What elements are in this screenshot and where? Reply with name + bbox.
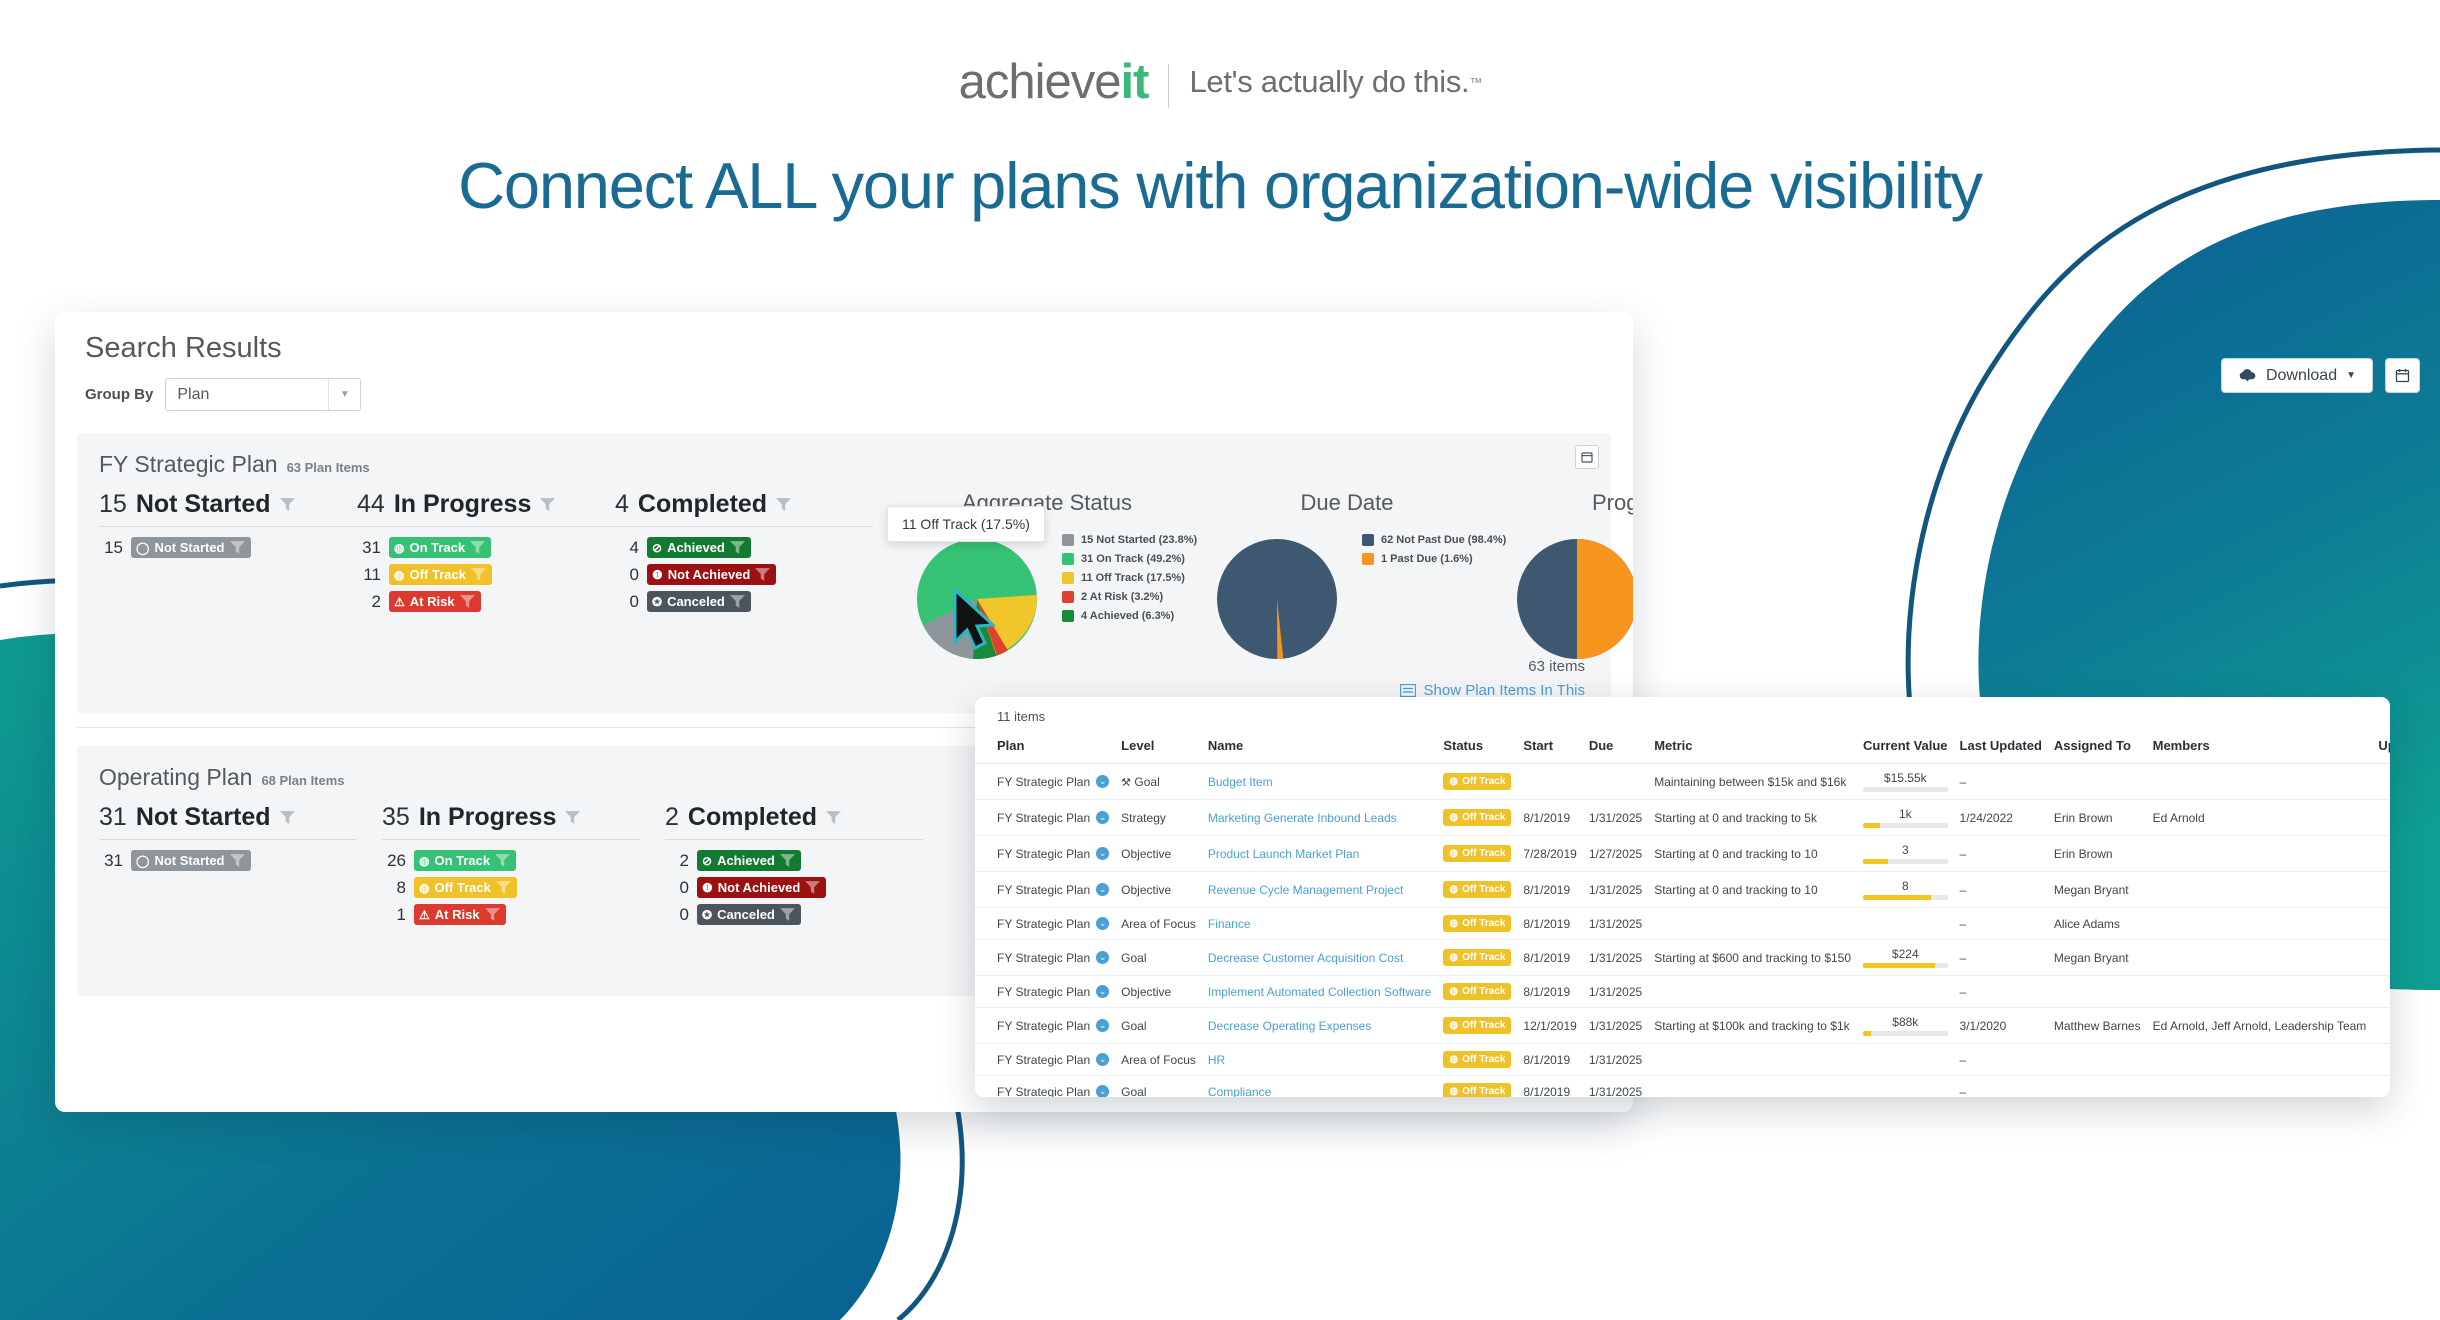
pie-chart-due-date[interactable] bbox=[1197, 524, 1357, 674]
status-badge-label: Off Track bbox=[434, 880, 490, 895]
status-row[interactable]: 0 ✪ Canceled bbox=[665, 904, 948, 925]
cell-last-updated: – bbox=[1954, 764, 2048, 800]
cell-assigned-to: Matthew Barnes bbox=[2048, 1008, 2147, 1044]
col-header-assigned-to[interactable]: Assigned To bbox=[2048, 730, 2147, 764]
cell-status: ◍Off Track bbox=[1437, 800, 1517, 836]
status-row[interactable]: 4 ⊘ Achieved bbox=[615, 537, 873, 558]
cell-members bbox=[2147, 976, 2373, 1008]
warning-icon: ⚠ bbox=[394, 596, 405, 608]
chart-legend: 62 Not Past Due (98.4%) 1 Past Due (1.6%… bbox=[1362, 534, 1506, 565]
status-badge-off-track[interactable]: ◍Off Track bbox=[1443, 809, 1511, 826]
link-circle-icon[interactable]: ⌄ bbox=[1096, 985, 1109, 998]
status-row[interactable]: 0 ✪ Canceled bbox=[615, 591, 873, 612]
progress-fill bbox=[1863, 859, 1888, 864]
plan-name: FY Strategic Plan bbox=[99, 451, 278, 478]
col-header-last-updated[interactable]: Last Updated bbox=[1954, 730, 2048, 764]
plan-name-text: FY Strategic Plan bbox=[997, 1019, 1090, 1033]
cell-level: Area of Focus bbox=[1115, 1044, 1202, 1076]
cell-level: Objective bbox=[1115, 976, 1202, 1008]
table-row[interactable]: FY Strategic Plan⌄GoalDecrease Operating… bbox=[975, 1008, 2390, 1044]
cell-metric: Starting at 0 and tracking to 5k bbox=[1648, 800, 1857, 836]
status-row[interactable]: 11 ◍ Off Track bbox=[357, 564, 615, 585]
cell-start: 8/1/2019 bbox=[1517, 976, 1582, 1008]
cell-level: Goal bbox=[1115, 1076, 1202, 1098]
chart-aggregate-status: Aggregate Status 11 Off Track (17.5%) bbox=[897, 490, 1197, 674]
item-name-link[interactable]: Decrease Operating Expenses bbox=[1208, 1019, 1371, 1033]
filter-funnel-icon[interactable] bbox=[730, 541, 745, 554]
item-name-link[interactable]: Revenue Cycle Management Project bbox=[1208, 883, 1403, 897]
plan-item-count: 63 Plan Items bbox=[287, 460, 370, 475]
cell-due: 1/31/2025 bbox=[1583, 908, 1648, 940]
table-items-count: 11 items bbox=[975, 709, 2390, 730]
filter-funnel-icon[interactable] bbox=[280, 498, 295, 511]
status-label: Completed bbox=[638, 490, 767, 519]
cloud-download-icon bbox=[2238, 368, 2257, 383]
plan-items-table-window: 11 items Plan Level Name Status Start Du… bbox=[975, 697, 2390, 1097]
cell-status: ◍Off Track bbox=[1437, 1044, 1517, 1076]
plan-name-text: FY Strategic Plan bbox=[997, 1085, 1090, 1098]
status-badge-label: Not Started bbox=[154, 853, 224, 868]
cell-name: Compliance bbox=[1202, 1076, 1437, 1098]
chart-tooltip: 11 Off Track (17.5%) bbox=[887, 506, 1045, 542]
status-badge-label: At Risk bbox=[410, 594, 455, 609]
cell-status: ◍Off Track bbox=[1437, 976, 1517, 1008]
cell-start: 7/28/2019 bbox=[1517, 836, 1582, 872]
col-header-plan[interactable]: Plan bbox=[975, 730, 1115, 764]
plan-title-row: FY Strategic Plan 63 Plan Items bbox=[77, 433, 1611, 478]
table-row[interactable]: FY Strategic Plan⌄StrategyMarketing Gene… bbox=[975, 800, 2390, 836]
status-row[interactable]: 26 ◍ On Track bbox=[382, 850, 665, 871]
cell-name: Revenue Cycle Management Project bbox=[1202, 872, 1437, 908]
cell-metric: Maintaining between $15k and $16k bbox=[1648, 764, 1857, 800]
link-circle-icon[interactable]: ⌄ bbox=[1096, 1053, 1109, 1066]
link-circle-icon[interactable]: ⌄ bbox=[1096, 1085, 1109, 1097]
status-row-list: 15 ◯ Not Started bbox=[99, 527, 357, 558]
item-name-link[interactable]: Finance bbox=[1208, 917, 1251, 931]
status-label: In Progress bbox=[394, 490, 532, 519]
legend-swatch bbox=[1062, 610, 1074, 622]
filter-funnel-icon[interactable] bbox=[755, 568, 770, 581]
clock-icon: ◍ bbox=[1449, 812, 1458, 823]
status-row-list: 31 ◯ Not Started bbox=[99, 840, 382, 871]
group-by-select[interactable]: Plan ▼ bbox=[165, 378, 361, 411]
status-badge-label: Canceled bbox=[667, 594, 725, 609]
filter-funnel-icon[interactable] bbox=[565, 811, 580, 824]
current-value-cell: $224 bbox=[1863, 947, 1948, 968]
cell-assigned-to: Erin Brown bbox=[2048, 800, 2147, 836]
filter-funnel-icon[interactable] bbox=[776, 498, 791, 511]
items-count: 63 items bbox=[1400, 658, 1585, 675]
filter-funnel-icon[interactable] bbox=[826, 811, 841, 824]
legend-item[interactable]: 4 Achieved (6.3%) bbox=[1062, 610, 1197, 622]
col-header-status[interactable]: Status bbox=[1437, 730, 1517, 764]
status-badge-label: Not Achieved bbox=[668, 567, 751, 582]
status-badge-label: Not Started bbox=[154, 540, 224, 555]
cell-metric bbox=[1648, 1076, 1857, 1098]
filter-funnel-icon[interactable] bbox=[780, 908, 795, 921]
legend-label: 1 Past Due (1.6%) bbox=[1381, 553, 1473, 565]
status-row[interactable]: 1 ⚠ At Risk bbox=[382, 904, 665, 925]
cell-assigned-to bbox=[2048, 764, 2147, 800]
panel-footer: 63 items Show Plan Items In This bbox=[1400, 658, 1585, 699]
status-badge-on-track[interactable]: ◍ On Track bbox=[389, 537, 491, 558]
cell-current-value bbox=[1857, 976, 1954, 1008]
clock-icon: ◍ bbox=[394, 542, 404, 554]
cell-members: Ed Arnold bbox=[2147, 800, 2373, 836]
item-name-link[interactable]: Product Launch Market Plan bbox=[1208, 847, 1359, 861]
cell-last-updated: – bbox=[1954, 1076, 2048, 1098]
warning-icon: ⚠ bbox=[419, 909, 430, 921]
progress-bar bbox=[1863, 963, 1948, 968]
cell-level: Strategy bbox=[1115, 800, 1202, 836]
cell-plan: FY Strategic Plan⌄ bbox=[975, 800, 1115, 836]
circle-icon: ◯ bbox=[136, 542, 149, 554]
cell-assigned-to: Alice Adams bbox=[2048, 908, 2147, 940]
chart-title: Progress U bbox=[1497, 490, 1633, 516]
circle-icon: ◯ bbox=[136, 855, 149, 867]
plan-items-table: Plan Level Name Status Start Due Metric … bbox=[975, 730, 2390, 1097]
cell-current-value: $88k bbox=[1857, 1008, 1954, 1044]
cell-metric: Starting at 0 and tracking to 10 bbox=[1648, 836, 1857, 872]
cell-level: Goal bbox=[1115, 1008, 1202, 1044]
status-badge-canceled[interactable]: ✪ Canceled bbox=[647, 591, 751, 612]
item-name-link[interactable]: Decrease Customer Acquisition Cost bbox=[1208, 951, 1403, 965]
status-badge-off-track[interactable]: ◍Off Track bbox=[1443, 881, 1511, 898]
item-name-link[interactable]: Budget Item bbox=[1208, 775, 1273, 789]
status-row[interactable]: 0 ❶ Not Achieved bbox=[615, 564, 873, 585]
status-badge-off-track[interactable]: ◍Off Track bbox=[1443, 773, 1511, 790]
brand-header: achieveit Let's actually do this.™ bbox=[0, 54, 2440, 110]
status-badge-not-started[interactable]: ◯ Not Started bbox=[131, 537, 251, 558]
cell-updates bbox=[2372, 940, 2390, 976]
status-badge-label: Off Track bbox=[409, 567, 465, 582]
group-by-value: Plan bbox=[166, 379, 328, 410]
download-label: Download bbox=[2266, 367, 2337, 385]
link-circle-icon[interactable]: ⌄ bbox=[1096, 811, 1109, 824]
filter-funnel-icon[interactable] bbox=[496, 881, 511, 894]
cell-status: ◍Off Track bbox=[1437, 908, 1517, 940]
status-count: 44 bbox=[357, 490, 385, 519]
status-row-count: 0 bbox=[665, 878, 689, 898]
status-row[interactable]: 8 ◍ Off Track bbox=[382, 877, 665, 898]
cell-metric bbox=[1648, 976, 1857, 1008]
cell-members bbox=[2147, 836, 2373, 872]
status-column-in-progress: 35 In Progress 26 ◍ On Track 8 bbox=[382, 803, 665, 965]
cell-start: 8/1/2019 bbox=[1517, 1076, 1582, 1098]
panel-expand-button[interactable] bbox=[1575, 445, 1599, 469]
status-badge-off-track[interactable]: ◍Off Track bbox=[1443, 1083, 1511, 1097]
schedule-button[interactable] bbox=[2385, 358, 2420, 393]
cell-status: ◍Off Track bbox=[1437, 836, 1517, 872]
legend-item[interactable]: 1 Past Due (1.6%) bbox=[1362, 553, 1506, 565]
item-name-link[interactable]: HR bbox=[1208, 1053, 1225, 1067]
clock-icon: ◍ bbox=[1449, 1054, 1458, 1065]
cell-level: Goal bbox=[1115, 940, 1202, 976]
col-header-name[interactable]: Name bbox=[1202, 730, 1437, 764]
table-row[interactable]: FY Strategic Plan⌄ObjectiveProduct Launc… bbox=[975, 836, 2390, 872]
table-row[interactable]: FY Strategic Plan⌄Area of FocusFinance◍O… bbox=[975, 908, 2390, 940]
filter-funnel-icon[interactable] bbox=[471, 568, 486, 581]
status-row-count: 31 bbox=[357, 538, 381, 558]
cell-plan: FY Strategic Plan⌄ bbox=[975, 1076, 1115, 1098]
status-count: 4 bbox=[615, 490, 629, 519]
window-header: Search Results Group By Plan ▼ bbox=[55, 312, 1633, 411]
chart-progress-updates: Progress U bbox=[1497, 490, 1633, 674]
trademark-mark: ™ bbox=[1469, 75, 1481, 90]
window-toolbar: Download ▼ bbox=[2221, 358, 2420, 393]
cell-plan: FY Strategic Plan⌄ bbox=[975, 908, 1115, 940]
plan-name-text: FY Strategic Plan bbox=[997, 1053, 1090, 1067]
progress-fill bbox=[1863, 1031, 1871, 1036]
mouse-cursor-icon bbox=[949, 586, 1009, 656]
status-badge-at-risk[interactable]: ⚠ At Risk bbox=[389, 591, 481, 612]
col-header-current-value[interactable]: Current Value bbox=[1857, 730, 1954, 764]
status-badge-at-risk[interactable]: ⚠ At Risk bbox=[414, 904, 506, 925]
table-head: Plan Level Name Status Start Due Metric … bbox=[975, 730, 2390, 764]
status-badge-off-track[interactable]: ◍Off Track bbox=[1443, 1017, 1511, 1034]
col-header-due[interactable]: Due bbox=[1583, 730, 1648, 764]
link-circle-icon[interactable]: ⌄ bbox=[1096, 775, 1109, 788]
cell-name: HR bbox=[1202, 1044, 1437, 1076]
filter-funnel-icon[interactable] bbox=[495, 854, 510, 867]
cell-updates bbox=[2372, 908, 2390, 940]
cell-level: Objective bbox=[1115, 872, 1202, 908]
status-badge-not-achieved[interactable]: ❶ Not Achieved bbox=[697, 877, 826, 898]
cell-start: 8/1/2019 bbox=[1517, 940, 1582, 976]
status-badge-label: Canceled bbox=[717, 907, 775, 922]
status-badge-on-track[interactable]: ◍ On Track bbox=[414, 850, 516, 871]
status-row-count: 26 bbox=[382, 851, 406, 871]
cell-name: Budget Item bbox=[1202, 764, 1437, 800]
status-row[interactable]: 2 ⚠ At Risk bbox=[357, 591, 615, 612]
status-row[interactable]: 0 ❶ Not Achieved bbox=[665, 877, 948, 898]
cell-current-value: $15.55k bbox=[1857, 764, 1954, 800]
status-count: 35 bbox=[382, 803, 410, 832]
table-row[interactable]: FY Strategic Plan⌄GoalDecrease Customer … bbox=[975, 940, 2390, 976]
cell-level: Area of Focus bbox=[1115, 908, 1202, 940]
status-row[interactable]: 31 ◯ Not Started bbox=[99, 850, 382, 871]
legend-swatch bbox=[1062, 591, 1074, 603]
filter-funnel-icon[interactable] bbox=[230, 541, 245, 554]
link-circle-icon[interactable]: ⌄ bbox=[1096, 883, 1109, 896]
cell-assigned-to bbox=[2048, 976, 2147, 1008]
filter-funnel-icon[interactable] bbox=[230, 854, 245, 867]
filter-funnel-icon[interactable] bbox=[730, 595, 745, 608]
current-value-cell: 1k bbox=[1863, 807, 1948, 828]
page-title: Search Results bbox=[85, 332, 1603, 365]
plan-name: Operating Plan bbox=[99, 764, 252, 791]
cell-current-value bbox=[1857, 1076, 1954, 1098]
pie-chart-progress-updates[interactable] bbox=[1497, 524, 1633, 674]
status-badge-label: On Track bbox=[409, 540, 465, 555]
cell-plan: FY Strategic Plan⌄ bbox=[975, 872, 1115, 908]
cell-plan: FY Strategic Plan⌄ bbox=[975, 1044, 1115, 1076]
item-name-link[interactable]: Compliance bbox=[1208, 1085, 1271, 1098]
cell-metric bbox=[1648, 908, 1857, 940]
cell-assigned-to: Megan Bryant bbox=[2048, 872, 2147, 908]
plan-item-count: 68 Plan Items bbox=[261, 773, 344, 788]
filter-funnel-icon[interactable] bbox=[470, 541, 485, 554]
filter-funnel-icon[interactable] bbox=[280, 811, 295, 824]
cell-level: Objective bbox=[1115, 836, 1202, 872]
cell-due: 1/31/2025 bbox=[1583, 1044, 1648, 1076]
cell-start: 8/1/2019 bbox=[1517, 800, 1582, 836]
item-name-link[interactable]: Marketing Generate Inbound Leads bbox=[1208, 811, 1397, 825]
cell-current-value bbox=[1857, 1044, 1954, 1076]
filter-funnel-icon[interactable] bbox=[485, 908, 500, 921]
logo-tagline: Let's actually do this. bbox=[1189, 64, 1469, 100]
cell-plan: FY Strategic Plan⌄ bbox=[975, 976, 1115, 1008]
status-label: In Progress bbox=[419, 803, 557, 832]
cell-due: 1/31/2025 bbox=[1583, 940, 1648, 976]
cell-due: 1/31/2025 bbox=[1583, 1008, 1648, 1044]
current-value-cell: $88k bbox=[1863, 1015, 1948, 1036]
status-badge-off-track[interactable]: ◍ Off Track bbox=[389, 564, 492, 585]
link-circle-icon[interactable]: ⌄ bbox=[1096, 1019, 1109, 1032]
filter-funnel-icon[interactable] bbox=[780, 854, 795, 867]
pie-wrap: 11 Off Track (17.5%) 15 Not Started (23.… bbox=[897, 524, 1197, 674]
pie-wrap bbox=[1497, 524, 1633, 674]
status-row-count: 8 bbox=[382, 878, 406, 898]
status-row[interactable]: 2 ⊘ Achieved bbox=[665, 850, 948, 871]
table-row[interactable]: FY Strategic Plan⌄Area of FocusHR◍Off Tr… bbox=[975, 1044, 2390, 1076]
cell-start: 8/1/2019 bbox=[1517, 872, 1582, 908]
table-header-row: Plan Level Name Status Start Due Metric … bbox=[975, 730, 2390, 764]
cell-metric: Starting at $100k and tracking to $1k bbox=[1648, 1008, 1857, 1044]
cell-last-updated: – bbox=[1954, 908, 2048, 940]
legend-swatch bbox=[1062, 534, 1074, 546]
legend-item[interactable]: 11 Off Track (17.5%) bbox=[1062, 572, 1197, 584]
col-header-members[interactable]: Members bbox=[2147, 730, 2373, 764]
status-row-list: 2 ⊘ Achieved 0 ❶ Not Achieved bbox=[665, 840, 948, 925]
table-row[interactable]: FY Strategic Plan⌄GoalCompliance◍Off Tra… bbox=[975, 1076, 2390, 1098]
cell-updates bbox=[2372, 1008, 2390, 1044]
status-badge-off-track[interactable]: ◍Off Track bbox=[1443, 845, 1511, 862]
status-badge-off-track[interactable]: ◍ Off Track bbox=[414, 877, 517, 898]
legend-item[interactable]: 31 On Track (49.2%) bbox=[1062, 553, 1197, 565]
col-header-updates[interactable]: Updates bbox=[2372, 730, 2390, 764]
legend-item[interactable]: 15 Not Started (23.8%) bbox=[1062, 534, 1197, 546]
table-row[interactable]: FY Strategic Plan⌄⚒ GoalBudget Item◍Off … bbox=[975, 764, 2390, 800]
status-badge-label: Achieved bbox=[717, 853, 775, 868]
cell-name: Decrease Customer Acquisition Cost bbox=[1202, 940, 1437, 976]
status-row-count: 0 bbox=[615, 565, 639, 585]
cell-last-updated: 1/24/2022 bbox=[1954, 800, 2048, 836]
progress-fill bbox=[1863, 895, 1931, 900]
status-row-count: 0 bbox=[665, 905, 689, 925]
progress-bar bbox=[1863, 895, 1948, 900]
cell-updates bbox=[2372, 1044, 2390, 1076]
table-row[interactable]: FY Strategic Plan⌄ObjectiveImplement Aut… bbox=[975, 976, 2390, 1008]
filter-funnel-icon[interactable] bbox=[460, 595, 475, 608]
status-column-completed: 2 Completed 2 ⊘ Achieved 0 bbox=[665, 803, 948, 965]
cell-metric bbox=[1648, 1044, 1857, 1076]
status-row[interactable]: 15 ◯ Not Started bbox=[99, 537, 357, 558]
cell-current-value bbox=[1857, 908, 1954, 940]
status-badge-off-track[interactable]: ◍Off Track bbox=[1443, 915, 1511, 932]
status-column-not-started: 31 Not Started 31 ◯ Not Started bbox=[99, 803, 382, 965]
col-header-start[interactable]: Start bbox=[1517, 730, 1582, 764]
x-circle-icon: ✪ bbox=[702, 909, 712, 921]
legend-item[interactable]: 62 Not Past Due (98.4%) bbox=[1362, 534, 1506, 546]
clock-icon: ◍ bbox=[1449, 918, 1458, 929]
clock-icon: ◍ bbox=[1449, 776, 1458, 787]
cell-assigned-to bbox=[2048, 1044, 2147, 1076]
status-label: Not Started bbox=[136, 490, 271, 519]
x-circle-icon: ✪ bbox=[652, 596, 662, 608]
logo-text-achieve: achieve bbox=[959, 54, 1121, 110]
col-header-level[interactable]: Level bbox=[1115, 730, 1202, 764]
status-badge-off-track[interactable]: ◍Off Track bbox=[1443, 1051, 1511, 1068]
legend-swatch bbox=[1062, 572, 1074, 584]
clock-icon: ◍ bbox=[419, 855, 429, 867]
cell-last-updated: – bbox=[1954, 940, 2048, 976]
current-value: $224 bbox=[1863, 947, 1948, 961]
cell-plan: FY Strategic Plan⌄ bbox=[975, 836, 1115, 872]
status-row-list: 4 ⊘ Achieved 0 ❶ Not Achieved bbox=[615, 527, 873, 612]
filter-funnel-icon[interactable] bbox=[805, 881, 820, 894]
cell-name: Finance bbox=[1202, 908, 1437, 940]
legend-label: 31 On Track (49.2%) bbox=[1081, 553, 1185, 565]
link-circle-icon[interactable]: ⌄ bbox=[1096, 951, 1109, 964]
status-row[interactable]: 31 ◍ On Track bbox=[357, 537, 615, 558]
item-name-link[interactable]: Implement Automated Collection Software bbox=[1208, 985, 1431, 999]
status-count: 31 bbox=[99, 803, 127, 832]
cell-name: Decrease Operating Expenses bbox=[1202, 1008, 1437, 1044]
page-headline: Connect ALL your plans with organization… bbox=[0, 148, 2440, 223]
status-column-header: 35 In Progress bbox=[382, 803, 640, 840]
col-header-metric[interactable]: Metric bbox=[1648, 730, 1857, 764]
link-circle-icon[interactable]: ⌄ bbox=[1096, 917, 1109, 930]
cell-updates bbox=[2372, 800, 2390, 836]
status-row-list: 31 ◍ On Track 11 ◍ Off Track bbox=[357, 527, 615, 612]
status-badge-canceled[interactable]: ✪ Canceled bbox=[697, 904, 801, 925]
status-badge-not-started[interactable]: ◯ Not Started bbox=[131, 850, 251, 871]
plan-name-text: FY Strategic Plan bbox=[997, 811, 1090, 825]
table-row[interactable]: FY Strategic Plan⌄ObjectiveRevenue Cycle… bbox=[975, 872, 2390, 908]
cell-level: ⚒ Goal bbox=[1115, 764, 1202, 800]
link-circle-icon[interactable]: ⌄ bbox=[1096, 847, 1109, 860]
current-value: 3 bbox=[1863, 843, 1948, 857]
legend-label: 2 At Risk (3.2%) bbox=[1081, 591, 1163, 603]
cell-plan: FY Strategic Plan⌄ bbox=[975, 1008, 1115, 1044]
legend-item[interactable]: 2 At Risk (3.2%) bbox=[1062, 591, 1197, 603]
status-badge-off-track[interactable]: ◍Off Track bbox=[1443, 949, 1511, 966]
cell-due: 1/31/2025 bbox=[1583, 872, 1648, 908]
download-button[interactable]: Download ▼ bbox=[2221, 358, 2373, 393]
status-column-header: 44 In Progress bbox=[357, 490, 615, 527]
current-value: $88k bbox=[1863, 1015, 1948, 1029]
group-by-label: Group By bbox=[85, 386, 153, 403]
chart-due-date: Due Date 62 Not Past Due (98.4%) 1 Past … bbox=[1197, 490, 1497, 674]
current-value: $15.55k bbox=[1863, 771, 1948, 785]
filter-funnel-icon[interactable] bbox=[540, 498, 555, 511]
chevron-down-icon[interactable]: ▼ bbox=[328, 379, 360, 410]
status-column-header: 15 Not Started bbox=[99, 490, 357, 527]
cell-updates bbox=[2372, 836, 2390, 872]
status-badge-achieved[interactable]: ⊘ Achieved bbox=[697, 850, 801, 871]
cell-last-updated: – bbox=[1954, 836, 2048, 872]
cell-status: ◍Off Track bbox=[1437, 764, 1517, 800]
cell-last-updated: 3/1/2020 bbox=[1954, 1008, 2048, 1044]
status-badge-achieved[interactable]: ⊘ Achieved bbox=[647, 537, 751, 558]
status-badge-not-achieved[interactable]: ❶ Not Achieved bbox=[647, 564, 776, 585]
status-badge-off-track[interactable]: ◍Off Track bbox=[1443, 983, 1511, 1000]
goal-icon: ⚒ bbox=[1121, 777, 1131, 789]
status-row-count: 1 bbox=[382, 905, 406, 925]
clock-icon: ◍ bbox=[1449, 1086, 1458, 1097]
status-column-completed: 4 Completed 4 ⊘ Achieved 0 bbox=[615, 490, 873, 674]
